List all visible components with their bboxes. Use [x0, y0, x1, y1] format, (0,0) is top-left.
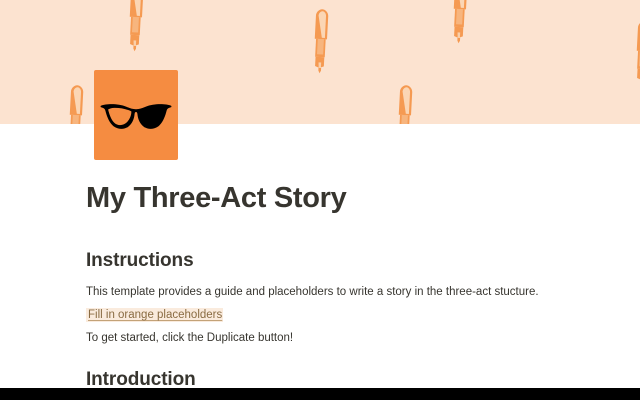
instructions-placeholder-note[interactable]: Fill in orange placeholders — [86, 301, 580, 324]
instructions-paragraph-intro[interactable]: This template provides a guide and place… — [86, 273, 580, 301]
fountain-pen-icon — [598, 7, 640, 95]
bottom-bar — [0, 388, 640, 400]
instructions-paragraph-duplicate[interactable]: To get started, click the Duplicate butt… — [86, 324, 580, 347]
fountain-pen-icon — [360, 71, 448, 124]
page-icon[interactable] — [94, 70, 178, 160]
section-heading-instructions[interactable]: Instructions — [86, 215, 580, 273]
fountain-pen-icon — [91, 0, 179, 61]
document-body: My Three-Act Story Instructions This tem… — [0, 124, 640, 400]
page-root: My Three-Act Story Instructions This tem… — [0, 0, 640, 400]
cat-eye-glasses-icon — [100, 102, 172, 132]
fountain-pen-icon — [276, 0, 364, 83]
fountain-pen-icon — [415, 0, 503, 53]
highlighted-text[interactable]: Fill in orange placeholders — [86, 308, 223, 322]
